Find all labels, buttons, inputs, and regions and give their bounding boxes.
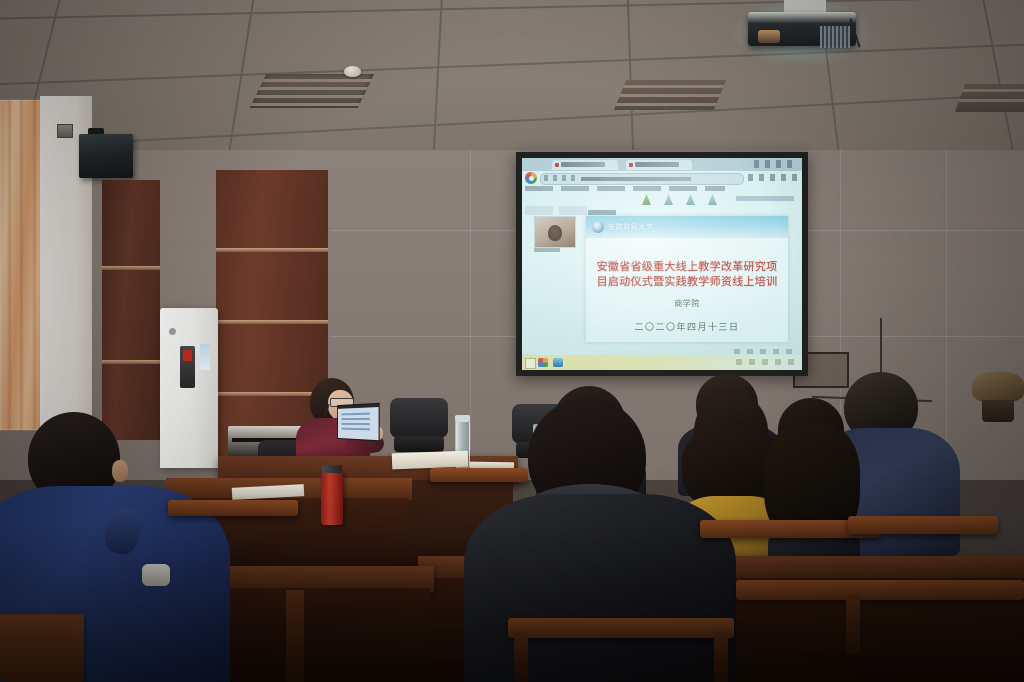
bench-right[interactable] <box>848 516 998 534</box>
shirt-cuff <box>142 564 170 586</box>
university-name: 安徽财经大学 <box>608 222 654 232</box>
projection-surface: 安徽财经大学 安徽省省级重大线上教学改革研究项 目启动仪式暨实践教学师资线上培训… <box>522 158 802 370</box>
bench-right-front[interactable] <box>736 580 1024 600</box>
ac-energy-label <box>200 344 210 370</box>
wall-outlet-plate <box>57 124 73 138</box>
slide-header-banner: 安徽财经大学 <box>586 216 788 238</box>
wood-panel-left <box>102 180 160 440</box>
media-taskbar-icon[interactable] <box>553 358 563 367</box>
projector-body <box>748 12 856 46</box>
recessed-light-center-icon <box>614 80 726 110</box>
bench-leg <box>846 594 860 654</box>
page-status-icons <box>734 349 796 354</box>
recessed-light-right-icon <box>955 84 1024 112</box>
recessed-light-left-icon <box>250 74 375 108</box>
page-toolbar-icons[interactable] <box>642 194 732 206</box>
tab-favicon-icon <box>629 163 633 167</box>
browser-tab-2[interactable] <box>626 160 692 170</box>
smoke-detector-icon <box>344 66 361 77</box>
start-button[interactable] <box>525 358 536 369</box>
slide-title: 安徽省省级重大线上教学改革研究项 目启动仪式暨实践教学师资线上培训 <box>594 260 780 290</box>
system-tray[interactable] <box>736 359 796 365</box>
attendee-long-hair <box>758 398 864 574</box>
projection-screen: 安徽财经大学 安徽省省级重大线上教学改革研究项 目启动仪式暨实践教学师资线上培训… <box>516 152 808 376</box>
university-logo-icon <box>592 221 604 233</box>
camera-name-label <box>534 248 560 252</box>
browser-tab-bar <box>522 158 802 171</box>
browser-toolbar-buttons[interactable] <box>748 174 798 181</box>
classroom-scene: 安徽财经大学 安徽省省级重大线上教学改革研究项 目启动仪式暨实践教学师资线上培训… <box>0 0 1024 682</box>
bookmarks-bar[interactable] <box>525 186 725 191</box>
projector-vent <box>820 26 850 48</box>
projector-lens-icon <box>758 30 780 43</box>
presentation-slide: 安徽财经大学 安徽省省级重大线上教学改革研究项 目启动仪式暨实践教学师资线上培训… <box>586 216 788 342</box>
attendee-dark-jacket <box>470 398 730 682</box>
bench-leg <box>514 632 528 682</box>
browser-taskbar-icon[interactable] <box>538 358 548 367</box>
camera-participant-icon <box>548 225 562 241</box>
bench-front-left[interactable] <box>0 614 84 682</box>
browser-tab-2-label <box>635 162 679 167</box>
attendee-ear <box>112 460 128 482</box>
panel-heading-label <box>588 210 616 215</box>
ac-knob-icon[interactable] <box>169 328 176 335</box>
desk-leg <box>286 590 304 682</box>
os-taskbar[interactable] <box>522 355 802 370</box>
bench-mid-left[interactable] <box>168 500 298 516</box>
wall-speaker-icon <box>79 134 133 178</box>
decorative-ornament <box>968 372 1024 434</box>
slide-organization: 商学院 <box>586 298 788 309</box>
browser-tab-1[interactable] <box>552 160 618 170</box>
browser-nav-icons[interactable] <box>544 175 578 181</box>
laptop[interactable] <box>335 404 379 448</box>
browser-tab-1-label <box>561 162 605 167</box>
window-buttons[interactable] <box>754 160 798 168</box>
slide-title-line2: 目启动仪式暨实践教学师资线上培训 <box>594 275 780 290</box>
browser-logo-icon <box>525 172 537 184</box>
address-bar-text <box>581 177 691 181</box>
ceiling-projector <box>742 2 866 58</box>
tab-favicon-icon <box>555 163 559 167</box>
red-thermos[interactable] <box>321 471 343 525</box>
ceiling <box>0 0 1024 152</box>
page-sub-tabs[interactable] <box>525 206 589 215</box>
ac-display-panel[interactable] <box>180 346 195 388</box>
bench-mid[interactable] <box>430 468 528 482</box>
ac-power-led-icon <box>183 350 192 361</box>
slide-date: 二〇二〇年四月十三日 <box>586 320 788 333</box>
papers-stack[interactable] <box>392 451 469 470</box>
slide-title-line1: 安徽省省级重大线上教学改革研究项 <box>594 260 780 275</box>
presenter-camera-tile <box>534 216 576 248</box>
bench-center[interactable] <box>508 618 734 638</box>
bench-leg <box>714 632 728 682</box>
page-right-link[interactable] <box>736 196 794 201</box>
